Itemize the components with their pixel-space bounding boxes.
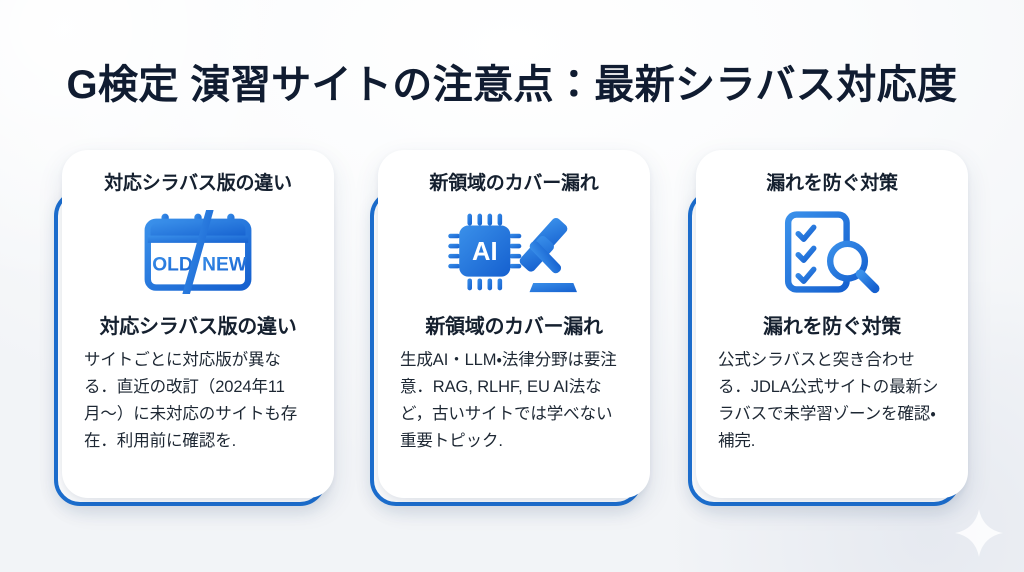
calendar-label-old: OLD — [152, 254, 193, 275]
card-heading: 新領域のカバー漏れ — [425, 310, 602, 339]
card-heading: 漏れを防ぐ対策 — [763, 310, 901, 339]
ai-chip-gavel-icon: AI — [439, 210, 589, 294]
calendar-label-new: NEW — [202, 254, 248, 275]
card-heading: 対応シラバス版の違い — [100, 310, 297, 339]
card-body: 生成AI・LLM・法律分野は要注意．RAG, RLHF, EU AI法など，古い… — [398, 347, 630, 455]
page-title: G検定 演習サイトの注意点：最新シラバス対応度 — [0, 52, 1024, 110]
card-eyebrow: 対応シラバス版の違い — [104, 172, 292, 196]
card-syllabus-version[interactable]: 対応シラバス版の違い — [62, 150, 334, 506]
calendar-old-new-icon: OLD NEW — [133, 210, 263, 294]
card-prevention-measures[interactable]: 漏れを防ぐ対策 — [696, 150, 968, 506]
card-eyebrow: 新領域のカバー漏れ — [429, 172, 598, 196]
card-new-domain-gap[interactable]: 新領域のカバー漏れ — [378, 150, 650, 506]
checklist-magnifier-icon — [776, 210, 888, 294]
card-body: サイトごとに対応版が異なる．直近の改訂（2024年11月〜）に未対応のサイトも存… — [82, 347, 314, 455]
card-body: 公式シラバスと突き合わせる．JDLA公式サイトの最新シラバスで未学習ゾーンを確認… — [716, 347, 948, 455]
chip-label-ai: AI — [472, 238, 498, 266]
card-eyebrow: 漏れを防ぐ対策 — [766, 172, 898, 196]
cards-row: 対応シラバス版の違い — [0, 150, 1024, 530]
